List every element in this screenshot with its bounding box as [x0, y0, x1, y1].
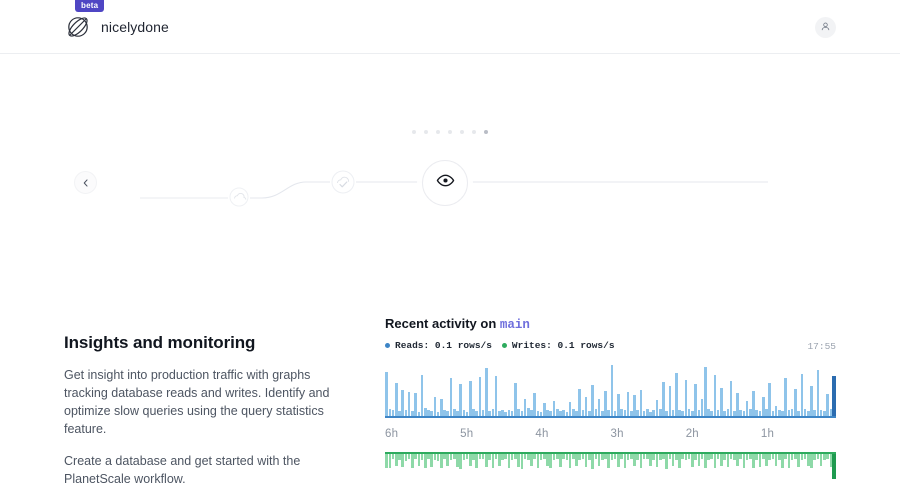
chart-title: Recent activity on main	[385, 316, 836, 332]
avatar[interactable]	[815, 17, 836, 38]
content-area: Insights and monitoring Get insight into…	[0, 239, 900, 484]
legend-reads: Reads: 0.1 rows/s	[385, 340, 492, 351]
time-axis-tick: 3h	[611, 428, 686, 440]
description-paragraph-2: Create a database and get started with t…	[64, 452, 356, 484]
activity-panel: Recent activity on main Reads: 0.1 rows/…	[382, 239, 836, 484]
chart-legend: Reads: 0.1 rows/s Writes: 0.1 rows/s 17:…	[385, 340, 836, 351]
left-pane: Insights and monitoring Get insight into…	[64, 239, 382, 484]
time-axis-tick: 2h	[686, 428, 761, 440]
brand-name: nicelydone	[101, 19, 169, 35]
chart-bar[interactable]	[832, 454, 835, 480]
branch-name: main	[500, 318, 530, 332]
time-axis-tick: 5h	[460, 428, 535, 440]
writes-bar-chart[interactable]	[385, 452, 836, 480]
page-title: Insights and monitoring	[64, 333, 382, 353]
carousel-dot[interactable]	[412, 130, 416, 134]
writes-legend-dot	[502, 343, 507, 348]
time-axis-tick: 1h	[761, 428, 836, 440]
planet-ring-logo-icon	[64, 13, 92, 41]
chart-timestamp: 17:55	[807, 341, 836, 352]
carousel-dot-active[interactable]	[484, 130, 488, 134]
reads-bar-chart[interactable]	[385, 361, 836, 418]
legend-writes-label: Writes: 0.1 rows/s	[512, 340, 615, 351]
carousel-step-active[interactable]	[422, 160, 468, 206]
legend-writes: Writes: 0.1 rows/s	[502, 340, 615, 351]
beta-badge: beta	[75, 0, 104, 12]
user-avatar-icon	[820, 19, 831, 37]
time-axis-tick: 6h	[385, 428, 460, 440]
chart-title-prefix: Recent activity on	[385, 316, 496, 331]
reads-legend-dot	[385, 343, 390, 348]
carousel-dot[interactable]	[460, 130, 464, 134]
chart-bar[interactable]	[832, 361, 835, 416]
chart-bar-fill	[832, 454, 835, 479]
carousel-dot[interactable]	[436, 130, 440, 134]
chart-bar-fill	[832, 376, 835, 416]
time-axis-tick: 4h	[535, 428, 610, 440]
brand[interactable]: nicelydone	[64, 13, 169, 41]
description-paragraph-1: Get insight into production traffic with…	[64, 366, 356, 438]
eye-icon	[436, 171, 455, 195]
carousel-dots	[0, 130, 900, 134]
carousel-dot[interactable]	[472, 130, 476, 134]
time-axis: 6h5h4h3h2h1h	[385, 428, 836, 440]
carousel-dot[interactable]	[448, 130, 452, 134]
top-bar: beta nicelydone	[0, 0, 900, 54]
carousel-dot[interactable]	[424, 130, 428, 134]
onboarding-carousel	[0, 54, 900, 239]
legend-reads-label: Reads: 0.1 rows/s	[395, 340, 492, 351]
